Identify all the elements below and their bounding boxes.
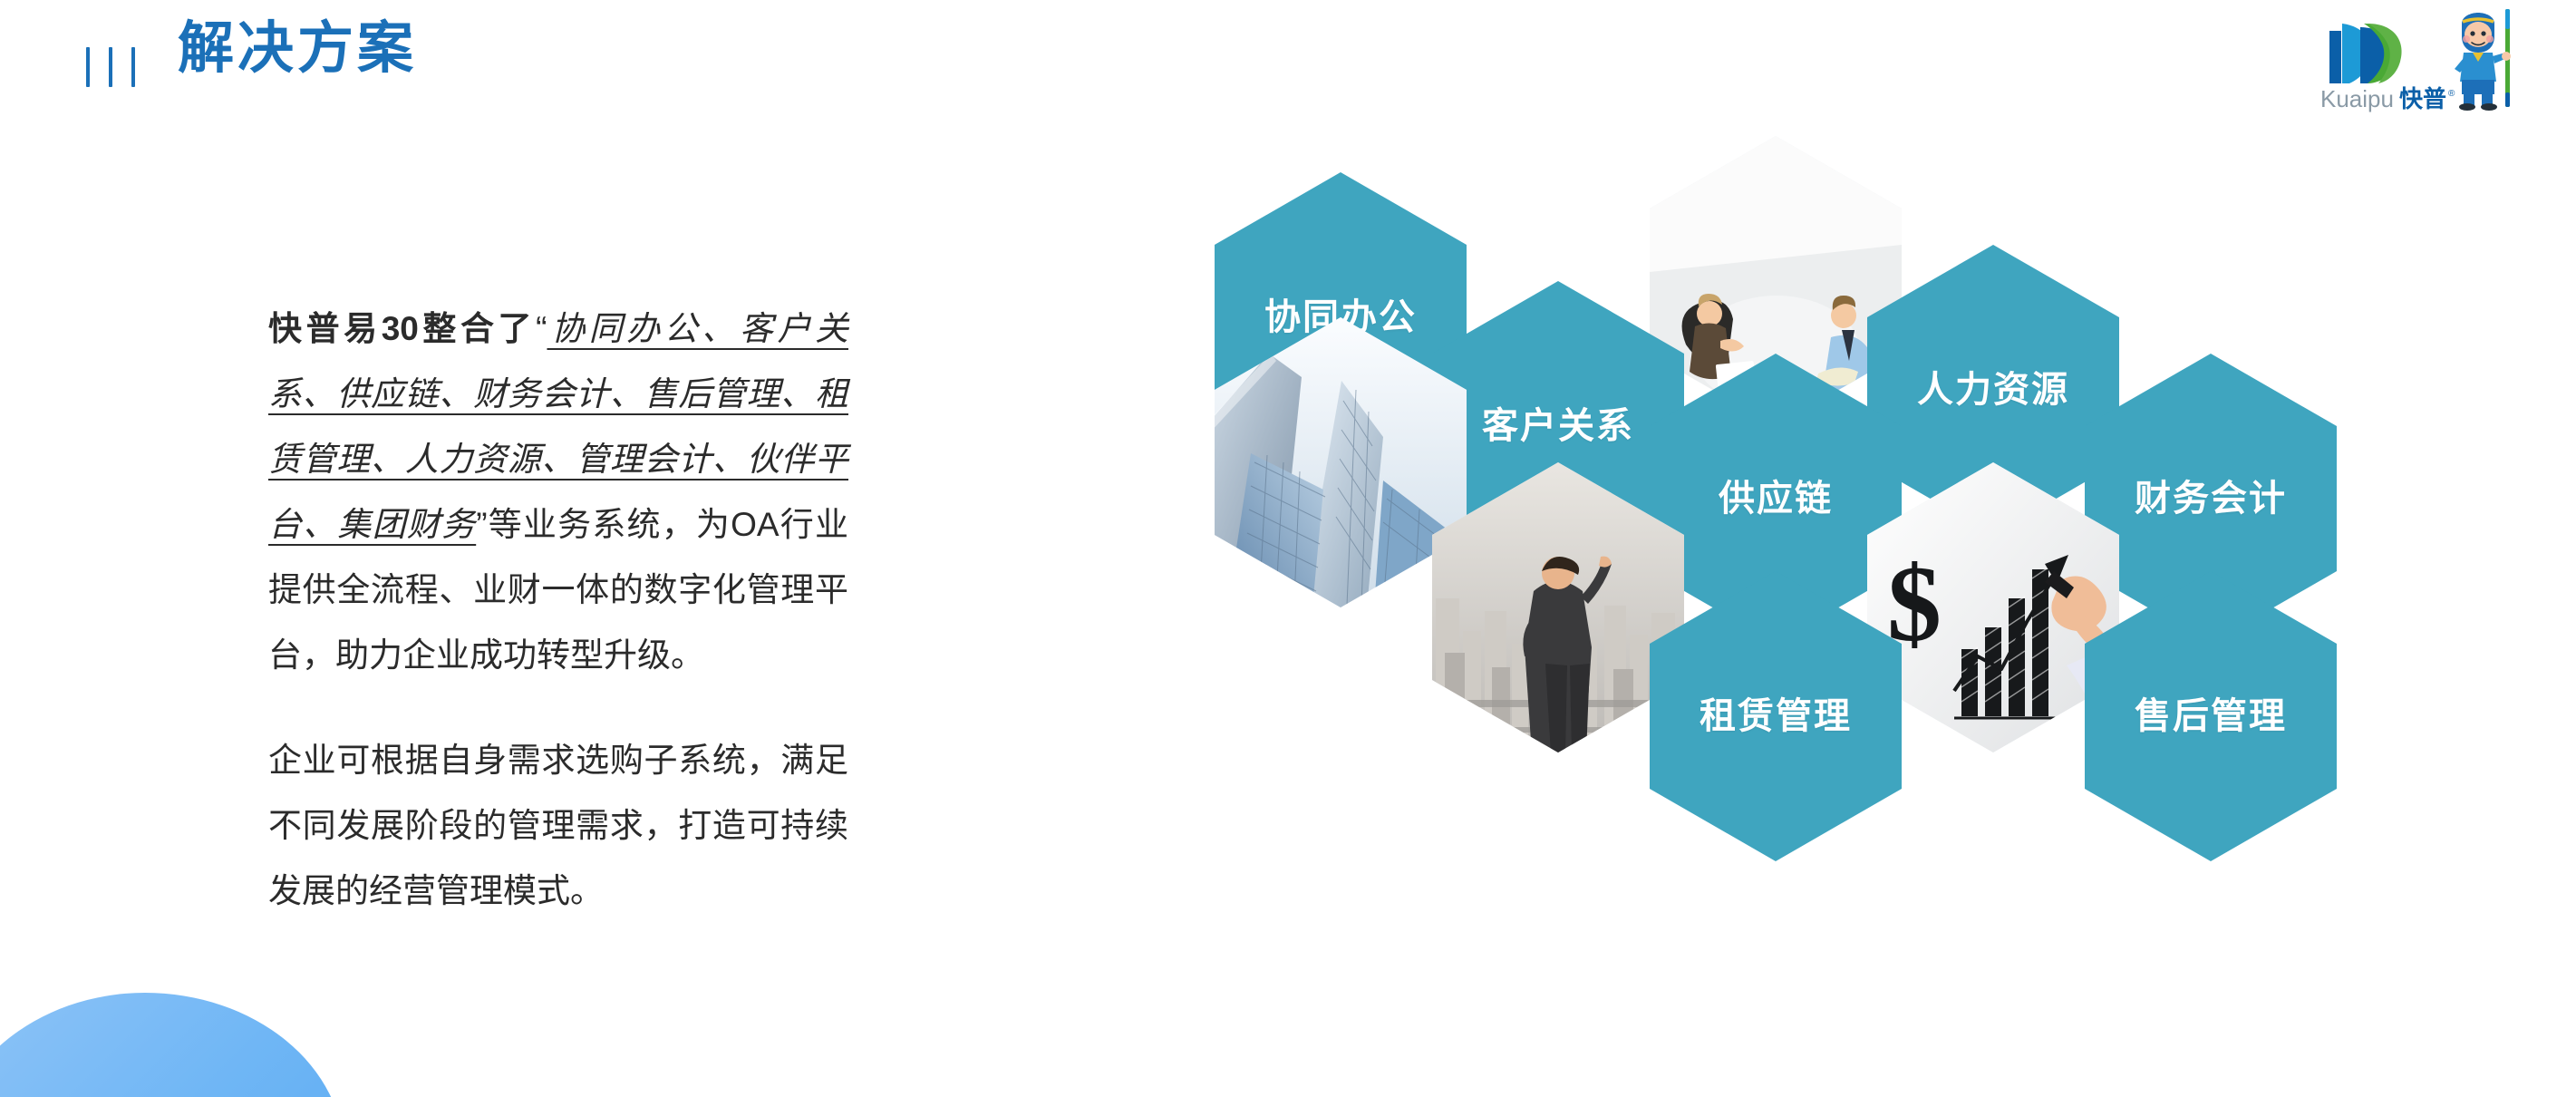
hex-growth-chart-photo: $: [1867, 462, 2119, 752]
title-tick-marks-icon: [86, 47, 135, 87]
monkey-mascot-icon: [2455, 9, 2511, 111]
page-title: 解决方案: [178, 7, 417, 91]
body-text-column: 快普易30整合了“协同办公、客户关系、供应链、财务会计、售后管理、租赁管理、人力…: [268, 263, 848, 957]
svg-text:Kuaipu: Kuaipu: [2320, 85, 2394, 112]
paragraph-1-close-quote: ”: [476, 506, 487, 543]
svg-text:快普: 快普: [2399, 85, 2446, 112]
hex-label: 客户关系: [1482, 408, 1634, 444]
hex-label: 供应链: [1719, 481, 1833, 517]
paragraph-1: 快普易30整合了“协同办公、客户关系、供应链、财务会计、售后管理、租赁管理、人力…: [268, 296, 848, 688]
decorative-blob: [0, 993, 344, 1097]
growth-chart-photo-icon: $: [1867, 462, 2119, 752]
tick-line-1: [86, 47, 90, 87]
paragraph-1-open-quote: “: [536, 310, 547, 347]
honeycomb-diagram: 协同办公 客户关系人力资源: [1215, 136, 2284, 1097]
svg-text:®: ®: [2448, 89, 2455, 99]
hex-label: 租赁管理: [1700, 698, 1852, 734]
tick-line-3: [131, 47, 135, 87]
tick-line-2: [109, 47, 112, 87]
slide-canvas: 解决方案 Kuaipu 快普 ®: [0, 0, 2576, 1097]
hex-label: 财务会计: [2135, 481, 2287, 517]
hex-lease-management[interactable]: 租赁管理: [1650, 571, 1902, 861]
hex-label: 人力资源: [1917, 372, 2069, 408]
kuaipu-logo: Kuaipu 快普 ®: [2310, 5, 2554, 114]
hex-label: 售后管理: [2135, 698, 2287, 734]
hex-after-sales[interactable]: 售后管理: [2085, 571, 2337, 861]
slide-header: 解决方案: [0, 0, 2576, 127]
paragraph-1-lead: 快普易30整合了: [268, 310, 536, 347]
paragraph-2: 企业可根据自身需求选购子系统，满足不同发展阶段的管理需求，打造可持续发展的经营管…: [268, 728, 848, 924]
